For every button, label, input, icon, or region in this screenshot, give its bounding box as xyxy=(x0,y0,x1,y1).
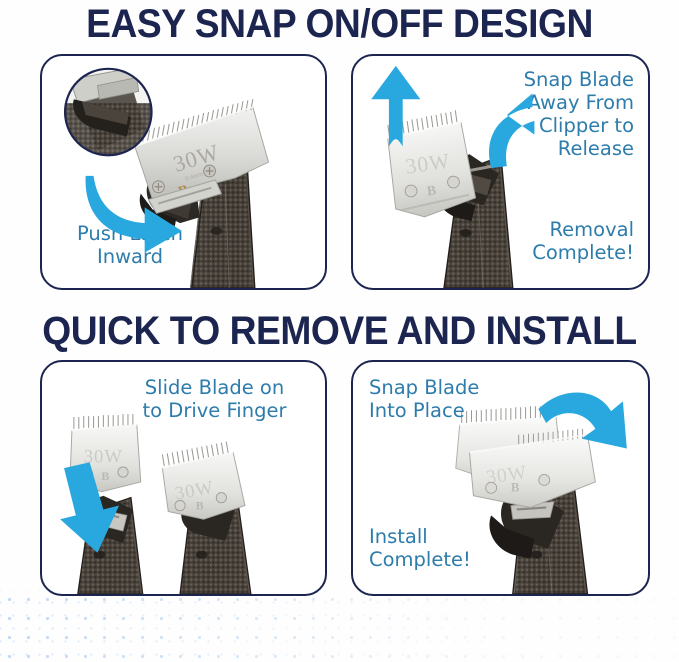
snap-blade-into-place-caption: Snap Blade Into Place xyxy=(369,376,549,422)
page-title-top: EASY SNAP ON/OFF DESIGN xyxy=(24,4,655,44)
svg-text:B: B xyxy=(101,469,109,483)
svg-text:B: B xyxy=(196,498,204,512)
step-panel-snap-away: 30W B Snap Blade Away From Clipper to Re… xyxy=(351,54,650,290)
install-complete-caption: Install Complete! xyxy=(369,525,549,571)
svg-text:B: B xyxy=(511,481,520,495)
step-panel-push-latch: 30W 0.4mm B xyxy=(40,54,327,290)
svg-text:30W: 30W xyxy=(84,446,123,467)
step-panel-slide-blade: 30W B 30W B xyxy=(40,360,327,596)
slide-blade-caption: Slide Blade on to Drive Finger xyxy=(112,376,317,422)
push-latch-caption: Push Latch Inward xyxy=(56,222,204,268)
page-title-bottom: QUICK TO REMOVE AND INSTALL xyxy=(24,311,655,351)
dot-pattern-background xyxy=(0,590,679,662)
step-panel-snap-into-place: 30W B Snap Blade Into Place Install Comp… xyxy=(351,360,650,596)
removal-complete-caption: Removal Complete! xyxy=(459,218,634,264)
snap-blade-away-caption: Snap Blade Away From Clipper to Release xyxy=(454,68,634,160)
